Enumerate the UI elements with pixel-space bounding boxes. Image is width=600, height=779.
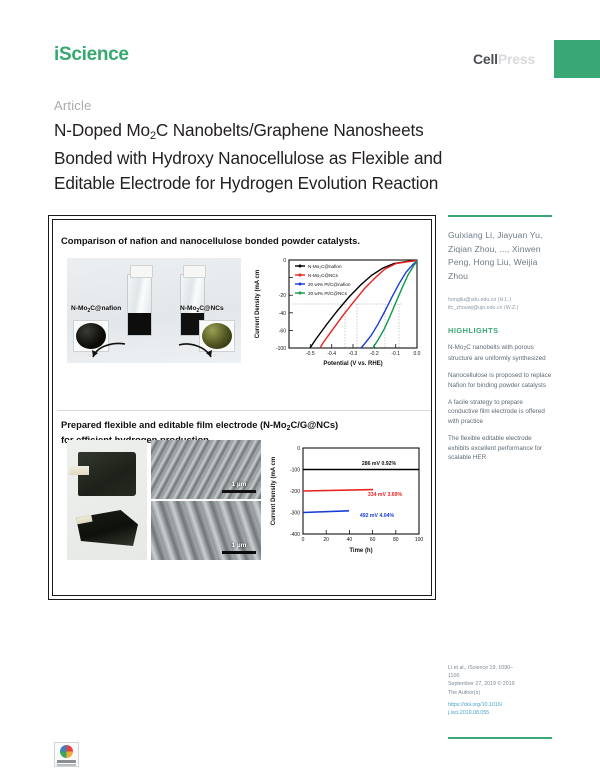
- citation-line-1: Li et al., iScience 19, 1090–: [448, 664, 552, 672]
- svg-text:100: 100: [415, 537, 424, 543]
- svg-text:-200: -200: [290, 489, 300, 495]
- lsv-legend-item-2: 20 wt% Pt/C@nafion: [308, 282, 351, 287]
- corresponding-email-2[interactable]: ifc_zhouwj@ujn.edu.cn (W.Z.): [448, 304, 552, 312]
- author-list: Guixiang Li, Jiayuan Yu, Ziqian Zhou, ..…: [448, 229, 552, 283]
- lsv-x-axis-label: Potential (V vs. RHE): [323, 361, 382, 367]
- sem-image-composite: 1 µm: [151, 501, 261, 560]
- film-electrode-bent: [76, 510, 138, 546]
- svg-text:-60: -60: [279, 328, 286, 334]
- lsv-legend-item-1: N-Mo₂C@NCs: [308, 273, 339, 278]
- film-electrode-flat: [78, 452, 136, 496]
- svg-text:-400: -400: [290, 532, 300, 538]
- citation-block: Li et al., iScience 19, 1090– 1100 Septe…: [448, 664, 552, 717]
- highlight-item-0: N-Mo2C nanobelts with porous structure a…: [448, 343, 552, 363]
- electrode-inset-ncs: [199, 320, 235, 352]
- catalyst-vial-photo: N-Mo2C@nafion N-Mo2C@NCs: [67, 258, 241, 363]
- svg-text:80: 80: [393, 537, 399, 543]
- svg-text:-300: -300: [290, 511, 300, 517]
- title-line-1: N-Doped Mo2C Nanobelts/Graphene Nanoshee…: [54, 120, 424, 140]
- author-sidebar: Guixiang Li, Jiayuan Yu, Ziqian Zhou, ..…: [448, 215, 552, 462]
- stability-annotation-100: 286 mV 0.92%: [362, 461, 397, 467]
- crossmark-badge[interactable]: [54, 742, 79, 767]
- highlight-item-2: A facile strategy to prepare conductive …: [448, 398, 552, 426]
- vial-nafion: [127, 274, 152, 336]
- stability-chart: 0 -100 -200 -300 -400 0 20 40 60 80 10: [267, 438, 427, 562]
- stability-annotation-300: 492 mV 4.04%: [360, 513, 395, 519]
- masthead: iScience CellPress: [0, 0, 600, 92]
- sem-scalebar-bottom: 1 µm: [222, 542, 256, 554]
- svg-text:0.0: 0.0: [414, 351, 421, 357]
- film-electrode-photo: [67, 440, 147, 560]
- svg-text:40: 40: [347, 537, 353, 543]
- electrode-inset-nafion: [73, 320, 109, 352]
- title-subscript: 2: [150, 130, 156, 142]
- highlight-item-3: The flexible editable electrode exhibits…: [448, 434, 552, 462]
- highlight-item-1: Nanocellulose is proposed to replace Naf…: [448, 371, 552, 390]
- svg-text:-0.2: -0.2: [370, 351, 379, 357]
- ga-top-banner: Comparison of nafion and nanocellulose b…: [61, 234, 423, 247]
- electrode-disc-ncs: [202, 323, 232, 349]
- svg-text:-100: -100: [276, 346, 286, 352]
- svg-text:-0.1: -0.1: [391, 351, 400, 357]
- lsv-legend-item-0: N-Mo₂C@nafion: [308, 264, 342, 269]
- lsv-legend-item-3: 20 wt% Pt/C@NCs: [308, 291, 348, 296]
- svg-text:-0.4: -0.4: [327, 351, 336, 357]
- svg-text:-0.5: -0.5: [306, 351, 315, 357]
- doi-link-line-2[interactable]: j.isci.2019.08.055: [448, 709, 552, 717]
- svg-text:-100: -100: [290, 468, 300, 474]
- svg-text:-0.3: -0.3: [349, 351, 358, 357]
- stability-x-axis-label: Time (h): [349, 548, 372, 554]
- svg-text:0: 0: [297, 446, 300, 452]
- graphical-abstract: Comparison of nafion and nanocellulose b…: [48, 215, 436, 600]
- svg-text:0: 0: [302, 537, 305, 543]
- cellpress-logo-press: Press: [498, 51, 535, 67]
- svg-text:0: 0: [283, 258, 286, 264]
- brand-color-block: [554, 40, 600, 78]
- sem-image-nanobelts: 1 µm: [151, 440, 261, 499]
- corresponding-emails: hongliu@sdu.edu.cn (H.L.) ifc_zhouwj@ujn…: [448, 296, 552, 312]
- paper-cover-page: iScience CellPress Article N-Doped Mo2C …: [0, 0, 600, 779]
- journal-logo: iScience: [54, 44, 129, 66]
- vial-nafion-label: N-Mo2C@nafion: [71, 305, 121, 312]
- sem-scalebar-top: 1 µm: [222, 481, 256, 493]
- cellpress-logo: CellPress: [473, 51, 535, 67]
- svg-text:-20: -20: [279, 293, 286, 299]
- doi-link-line-1[interactable]: https://doi.org/10.1016/: [448, 701, 552, 709]
- citation-line-4: The Author(s): [448, 689, 552, 697]
- vial-nafion-liquid: [128, 313, 151, 335]
- stability-annotation-200: 334 mV 3.69%: [368, 492, 403, 498]
- svg-text:60: 60: [370, 537, 376, 543]
- lsv-polarization-chart: 0 -20 -40 -60 -100 -0.5 -0.4 -0.3 -0.2: [249, 252, 425, 370]
- stability-y-axis-label: Current Density (mA cm: [271, 457, 277, 525]
- page-title: N-Doped Mo2C Nanobelts/Graphene Nanoshee…: [54, 118, 524, 196]
- lsv-y-axis-label: Current Density (mA cm: [255, 270, 261, 338]
- svg-text:20: 20: [323, 537, 329, 543]
- citation-line-2: 1100: [448, 672, 552, 680]
- corresponding-email-1[interactable]: hongliu@sdu.edu.cn (H.L.): [448, 296, 552, 304]
- citation-line-3: September 27, 2019 © 2019: [448, 680, 552, 688]
- title-line-3: Editable Electrode for Hydrogen Evolutio…: [54, 173, 438, 193]
- crossmark-wheel-icon: [60, 745, 73, 758]
- vial-ncs-label: N-Mo2C@NCs: [180, 305, 224, 312]
- highlights-heading: HIGHLIGHTS: [448, 326, 552, 335]
- sidebar-bottom-rule: [448, 737, 552, 739]
- electrode-disc-nafion: [76, 323, 106, 349]
- article-type-label: Article: [54, 98, 92, 113]
- sidebar-top-rule: [448, 215, 552, 217]
- ga-divider: [57, 410, 431, 411]
- title-line-2: Bonded with Hydroxy Nanocellulose as Fle…: [54, 148, 442, 168]
- graphical-abstract-inner: Comparison of nafion and nanocellulose b…: [52, 219, 432, 596]
- cellpress-logo-cell: Cell: [473, 51, 498, 67]
- svg-text:-40: -40: [279, 311, 286, 317]
